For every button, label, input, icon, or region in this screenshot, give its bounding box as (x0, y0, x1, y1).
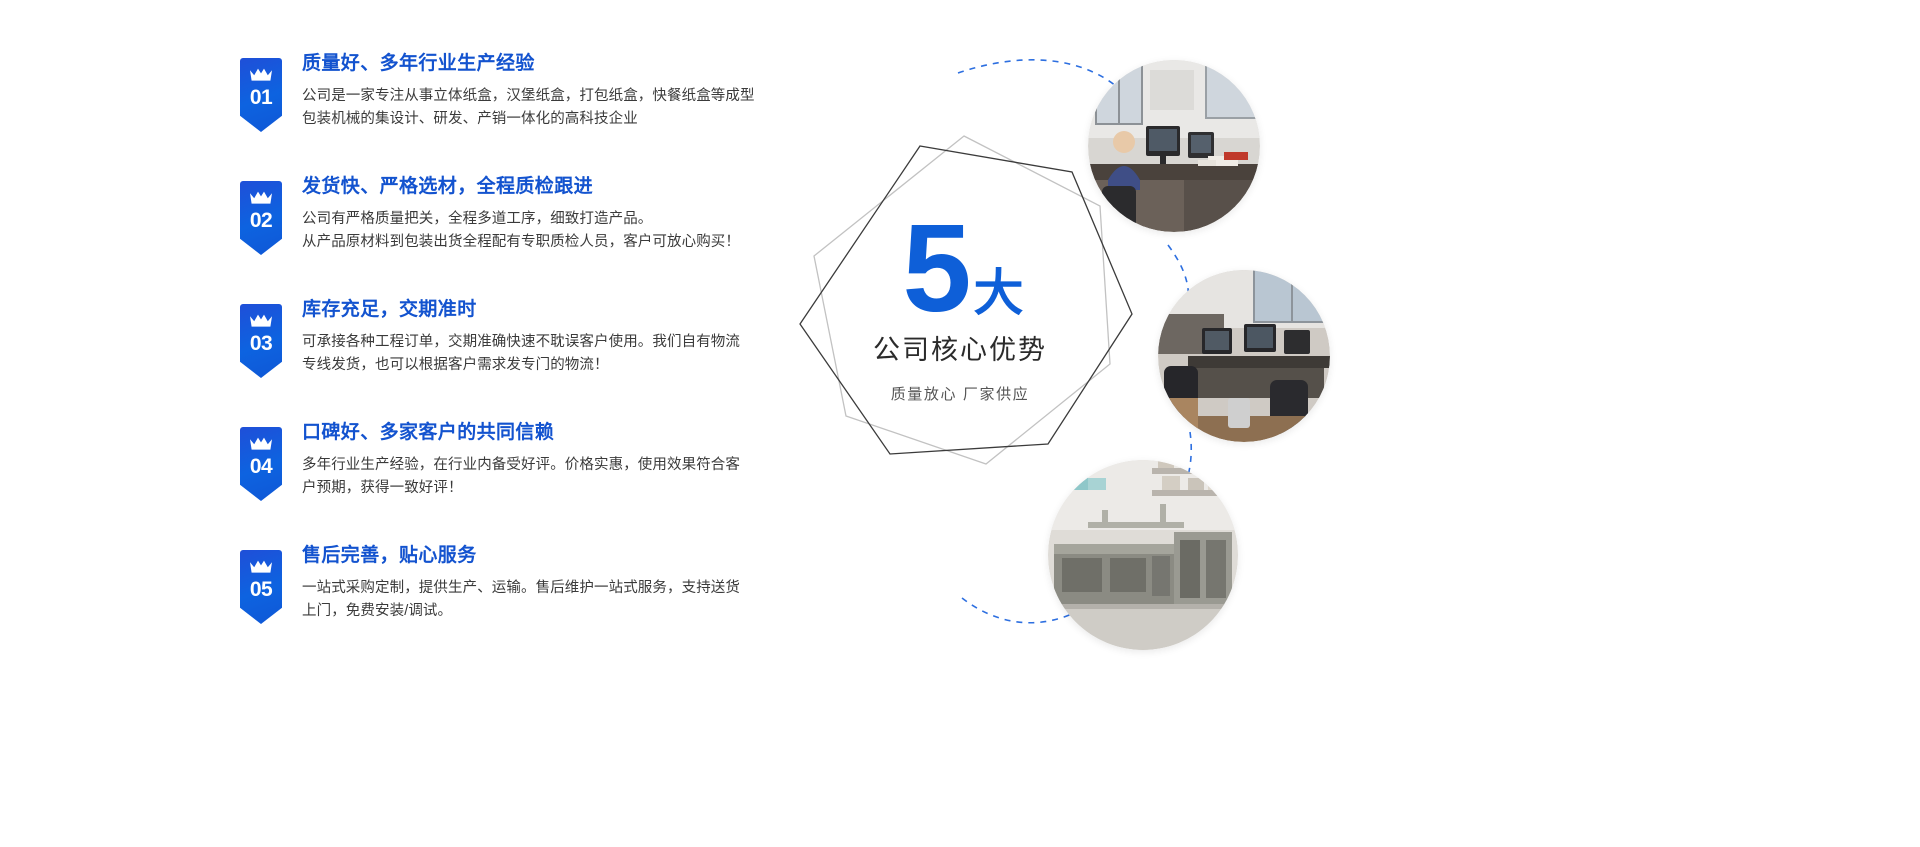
feature-title-04: 口碑好、多家客户的共同信赖 (302, 421, 780, 445)
feature-body-line: 上门，免费安装/调试。 (302, 600, 780, 623)
feature-number-01: 01 (250, 87, 272, 108)
feature-badge-05: 05 (240, 550, 282, 624)
feature-badge-01: 01 (240, 58, 282, 132)
feature-item-02: 02 发货快、严格选材，全程质检跟进 公司有严格质量把关，全程多道工序，细致打造… (240, 175, 780, 271)
feature-body-02: 公司有严格质量把关，全程多道工序，细致打造产品。 从产品原材料到包装出货全程配有… (302, 208, 780, 255)
office-interior-photo (1158, 270, 1330, 442)
feature-badge-02: 02 (240, 181, 282, 255)
feature-body-line: 一站式采购定制，提供生产、运输。售后维护一站式服务，支持送货 (302, 577, 780, 600)
feature-title-01: 质量好、多年行业生产经验 (302, 52, 780, 76)
photo-cluster (940, 0, 1400, 847)
feature-item-05: 05 售后完善，贴心服务 一站式采购定制，提供生产、运输。售后维护一站式服务，支… (240, 544, 780, 640)
advantages-banner: 01 质量好、多年行业生产经验 公司是一家专注从事立体纸盒，汉堡纸盒，打包纸盒，… (0, 0, 1920, 847)
feature-number-04: 04 (250, 456, 272, 477)
feature-title-02: 发货快、严格选材，全程质检跟进 (302, 175, 780, 199)
production-machine-photo (1048, 460, 1238, 650)
crown-icon (249, 436, 273, 451)
crown-icon (249, 190, 273, 205)
feature-body-line: 从产品原材料到包装出货全程配有专职质检人员，客户可放心购买！ (302, 231, 780, 254)
feature-body-04: 多年行业生产经验，在行业内备受好评。价格实惠，使用效果符合客 户预期，获得一致好… (302, 454, 780, 501)
feature-list: 01 质量好、多年行业生产经验 公司是一家专注从事立体纸盒，汉堡纸盒，打包纸盒，… (240, 52, 780, 640)
feature-item-04: 04 口碑好、多家客户的共同信赖 多年行业生产经验，在行业内备受好评。价格实惠，… (240, 421, 780, 517)
feature-body-01: 公司是一家专注从事立体纸盒，汉堡纸盒，打包纸盒，快餐纸盒等成型 包装机械的集设计… (302, 85, 780, 132)
feature-body-line: 包装机械的集设计、研发、产销一体化的高科技企业 (302, 108, 780, 131)
feature-body-05: 一站式采购定制，提供生产、运输。售后维护一站式服务，支持送货 上门，免费安装/调… (302, 577, 780, 624)
feature-number-05: 05 (250, 579, 272, 600)
feature-body-03: 可承接各种工程订单，交期准确快速不耽误客户使用。我们自有物流 专线发货，也可以根… (302, 331, 780, 378)
office-workstation-photo (1088, 60, 1260, 232)
feature-body-line: 公司是一家专注从事立体纸盒，汉堡纸盒，打包纸盒，快餐纸盒等成型 (302, 85, 780, 108)
feature-item-03: 03 库存充足，交期准时 可承接各种工程订单，交期准确快速不耽误客户使用。我们自… (240, 298, 780, 394)
feature-body-line: 公司有严格质量把关，全程多道工序，细致打造产品。 (302, 208, 780, 231)
feature-number-02: 02 (250, 210, 272, 231)
crown-icon (249, 313, 273, 328)
feature-body-line: 户预期，获得一致好评！ (302, 477, 780, 500)
feature-number-03: 03 (250, 333, 272, 354)
feature-body-line: 专线发货，也可以根据客户需求发专门的物流！ (302, 354, 780, 377)
crown-icon (249, 559, 273, 574)
feature-title-05: 售后完善，贴心服务 (302, 544, 780, 568)
feature-body-line: 多年行业生产经验，在行业内备受好评。价格实惠，使用效果符合客 (302, 454, 780, 477)
feature-item-01: 01 质量好、多年行业生产经验 公司是一家专注从事立体纸盒，汉堡纸盒，打包纸盒，… (240, 52, 780, 148)
office-workstation-image (1088, 60, 1260, 232)
feature-badge-04: 04 (240, 427, 282, 501)
office-interior-image (1158, 270, 1330, 442)
crown-icon (249, 67, 273, 82)
feature-badge-03: 03 (240, 304, 282, 378)
production-machine-image (1048, 460, 1238, 650)
feature-title-03: 库存充足，交期准时 (302, 298, 780, 322)
feature-body-line: 可承接各种工程订单，交期准确快速不耽误客户使用。我们自有物流 (302, 331, 780, 354)
